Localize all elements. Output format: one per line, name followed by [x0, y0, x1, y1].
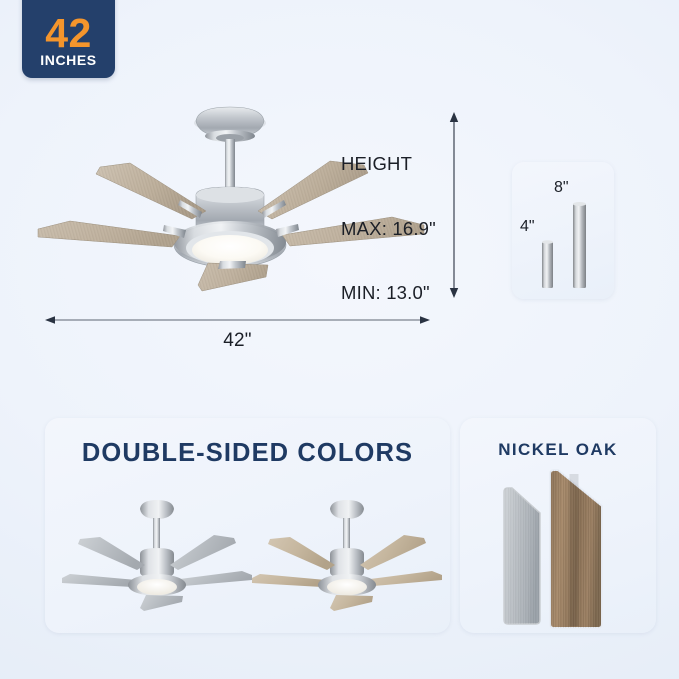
nickel-side-fan [62, 487, 252, 612]
nickel-blade-sample [504, 488, 540, 624]
horizontal-dimension-arrow [45, 313, 430, 327]
height-dimension-text: HEIGHT MAX: 16.9" MIN: 13.0" [341, 110, 436, 347]
led-light-kit [192, 235, 268, 265]
oak-blade-sample [550, 470, 602, 628]
infographic-canvas: 42 INCHES [0, 0, 679, 679]
height-max-value: MAX: 16.9" [341, 218, 436, 240]
downrod-long-label: 8" [554, 179, 569, 197]
downrod-options-panel: 4" 8" [512, 162, 614, 299]
fan-blade [38, 221, 180, 247]
height-min-value: MIN: 13.0" [341, 282, 436, 304]
oak-side-fan [252, 487, 442, 612]
double-sided-colors-title: DOUBLE-SIDED COLORS [45, 439, 450, 468]
width-dimension-label: 42" [45, 330, 430, 352]
blade-finish-samples [478, 468, 643, 638]
downrod-short-label: 4" [520, 218, 535, 236]
vertical-dimension-arrow [447, 112, 461, 298]
finish-options-title: NICKEL OAK [460, 440, 656, 460]
hero-section: HEIGHT MAX: 16.9" MIN: 13.0" 42" [0, 0, 679, 400]
height-label: HEIGHT [341, 153, 436, 175]
